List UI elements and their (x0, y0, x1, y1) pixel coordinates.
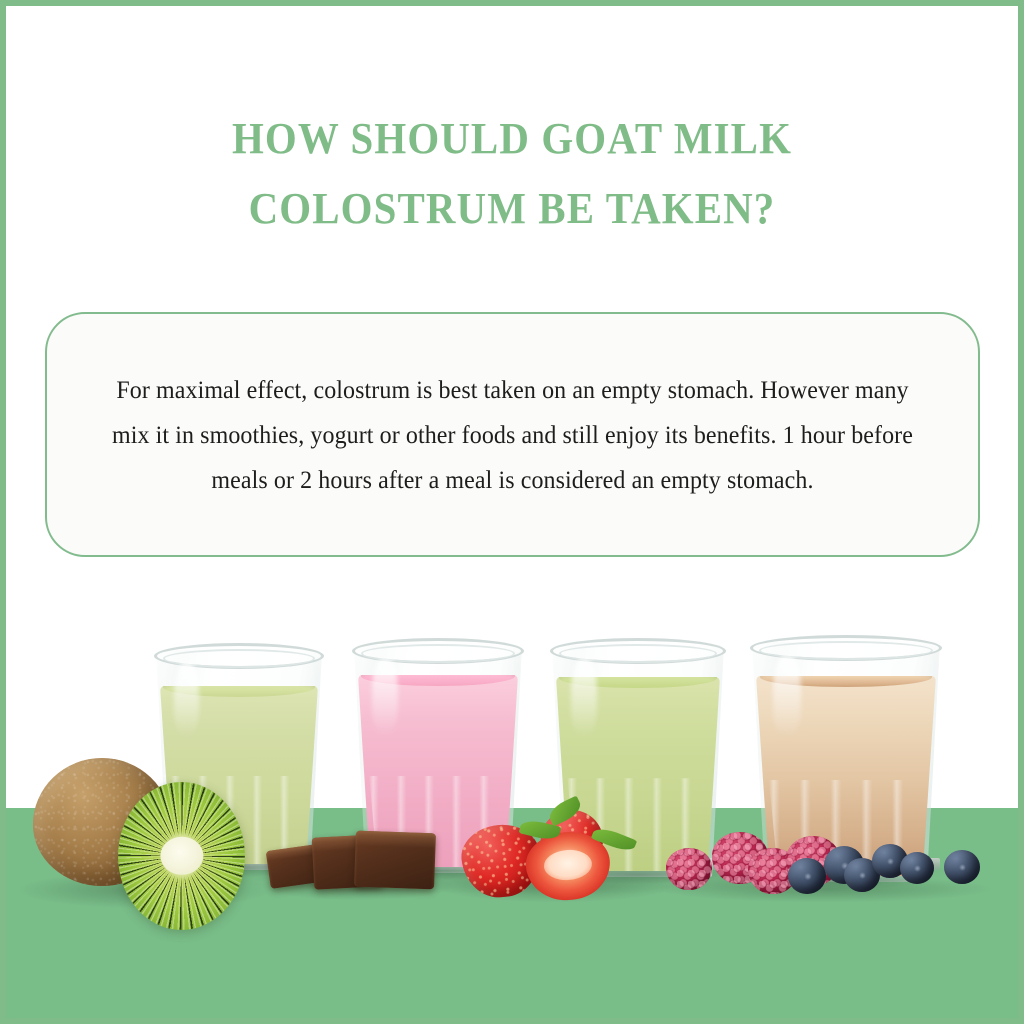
raspberry-1 (666, 848, 712, 890)
glass-highlight (571, 659, 597, 738)
chocolate-top-face (355, 831, 435, 848)
page-title-line-2: COLOSTRUM BE TAKEN? (36, 174, 988, 244)
page-title-line-1: HOW SHOULD GOAT MILK (36, 104, 988, 174)
description-card: For maximal effect, colostrum is best ta… (45, 312, 980, 557)
blueberry-6 (944, 850, 980, 884)
poster-canvas: HOW SHOULD GOAT MILK COLOSTRUM BE TAKEN?… (0, 0, 1024, 1024)
product-photo-scene (0, 600, 1024, 1024)
glass-highlight (773, 656, 801, 738)
blueberry-1 (788, 858, 826, 894)
glass-highlight (372, 659, 397, 737)
glass-highlight (174, 663, 199, 738)
page-title: HOW SHOULD GOAT MILK COLOSTRUM BE TAKEN? (0, 104, 1024, 244)
chocolate-square-3 (354, 831, 436, 890)
blueberry-5 (900, 852, 934, 884)
kiwi-half (118, 782, 245, 930)
description-text: For maximal effect, colostrum is best ta… (75, 367, 950, 502)
